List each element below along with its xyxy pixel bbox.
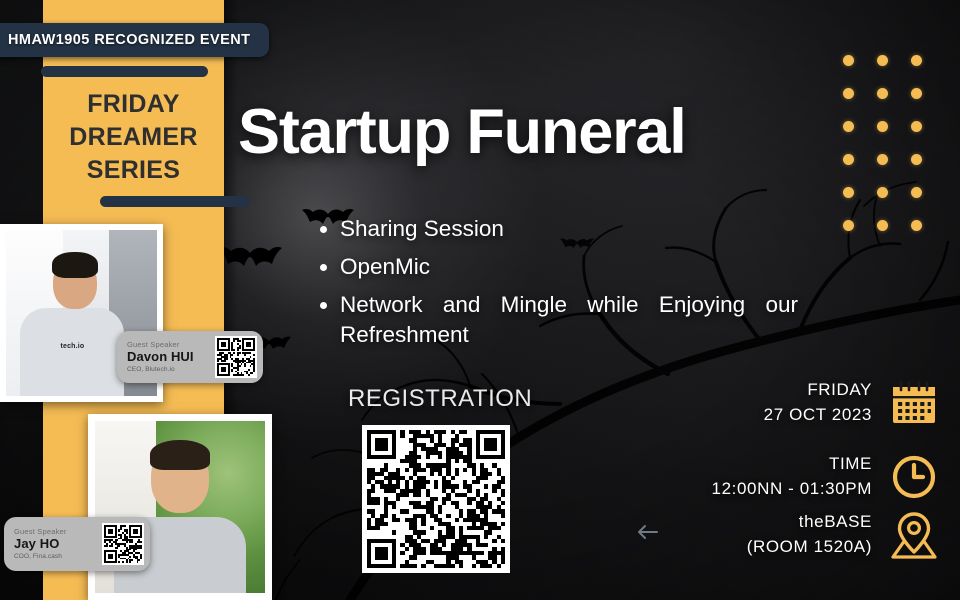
dot bbox=[877, 88, 888, 99]
calendar-icon bbox=[890, 379, 938, 427]
speaker-name: Jay HO bbox=[14, 536, 102, 553]
speaker-title: CEO, Blutech.io bbox=[127, 366, 215, 374]
recognized-event-badge: HMAW1905 RECOGNIZED EVENT bbox=[0, 23, 269, 57]
detail-line-1: theBASE bbox=[747, 510, 872, 535]
dot bbox=[843, 187, 854, 198]
event-poster: FRIDAY DREAMER SERIES HMAW1905 RECOGNIZE… bbox=[0, 0, 960, 600]
detail-line-2: (ROOM 1520A) bbox=[747, 535, 872, 560]
dot bbox=[877, 121, 888, 132]
speaker-name-plate: Guest Speaker Jay HO COO, Fina.cash bbox=[4, 517, 150, 571]
arrow-icon bbox=[636, 524, 658, 540]
series-title: FRIDAY DREAMER SERIES bbox=[43, 88, 224, 187]
detail-row-date: FRIDAY 27 OCT 2023 bbox=[764, 378, 938, 427]
clock-icon bbox=[890, 453, 938, 501]
dot bbox=[843, 88, 854, 99]
speaker-role-label: Guest Speaker bbox=[14, 527, 102, 536]
dot bbox=[911, 88, 922, 99]
detail-line-2: 27 OCT 2023 bbox=[764, 403, 872, 428]
poster-title: Startup Funeral bbox=[238, 96, 686, 168]
detail-line-1: TIME bbox=[712, 452, 872, 477]
dot bbox=[877, 187, 888, 198]
series-line-2: DREAMER bbox=[43, 121, 224, 154]
speaker-role-label: Guest Speaker bbox=[127, 340, 215, 349]
speaker-name-plate: Guest Speaker Davon HUI CEO, Blutech.io bbox=[117, 331, 263, 383]
program-list: Sharing Session OpenMic Network and Ming… bbox=[318, 214, 798, 388]
detail-row-venue: theBASE (ROOM 1520A) bbox=[747, 510, 938, 559]
detail-line-1: FRIDAY bbox=[764, 378, 872, 403]
dot bbox=[843, 121, 854, 132]
shirt-logo: tech.io bbox=[60, 343, 84, 350]
registration-qr-code[interactable] bbox=[362, 425, 510, 573]
dot bbox=[843, 220, 854, 231]
dot bbox=[877, 220, 888, 231]
series-line-1: FRIDAY bbox=[43, 88, 224, 121]
speaker-qr-code[interactable] bbox=[102, 523, 144, 565]
list-item: Network and Mingle while Enjoying our Re… bbox=[340, 290, 798, 380]
list-item: OpenMic bbox=[340, 252, 798, 282]
speaker-qr-code[interactable] bbox=[215, 336, 257, 378]
dot bbox=[877, 55, 888, 66]
dot bbox=[911, 55, 922, 66]
dot bbox=[877, 154, 888, 165]
dot bbox=[911, 154, 922, 165]
dot bbox=[843, 154, 854, 165]
speaker-title: COO, Fina.cash bbox=[14, 553, 102, 561]
recognized-event-badge-label: HMAW1905 RECOGNIZED EVENT bbox=[8, 32, 251, 48]
series-line-3: SERIES bbox=[43, 154, 224, 187]
dot bbox=[911, 121, 922, 132]
dot bbox=[911, 187, 922, 198]
detail-line-2: 12:00NN - 01:30PM bbox=[712, 477, 872, 502]
speaker-name: Davon HUI bbox=[127, 349, 215, 366]
location-pin-icon bbox=[890, 511, 938, 559]
speaker-photo-card bbox=[88, 414, 272, 600]
dot bbox=[911, 220, 922, 231]
detail-row-time: TIME 12:00NN - 01:30PM bbox=[712, 452, 938, 501]
dot-grid-decoration bbox=[843, 55, 945, 253]
divider-rule-top bbox=[41, 66, 208, 77]
list-item: Sharing Session bbox=[340, 214, 798, 244]
dot bbox=[843, 55, 854, 66]
divider-rule-bottom bbox=[100, 196, 250, 207]
registration-label: REGISTRATION bbox=[348, 385, 532, 413]
